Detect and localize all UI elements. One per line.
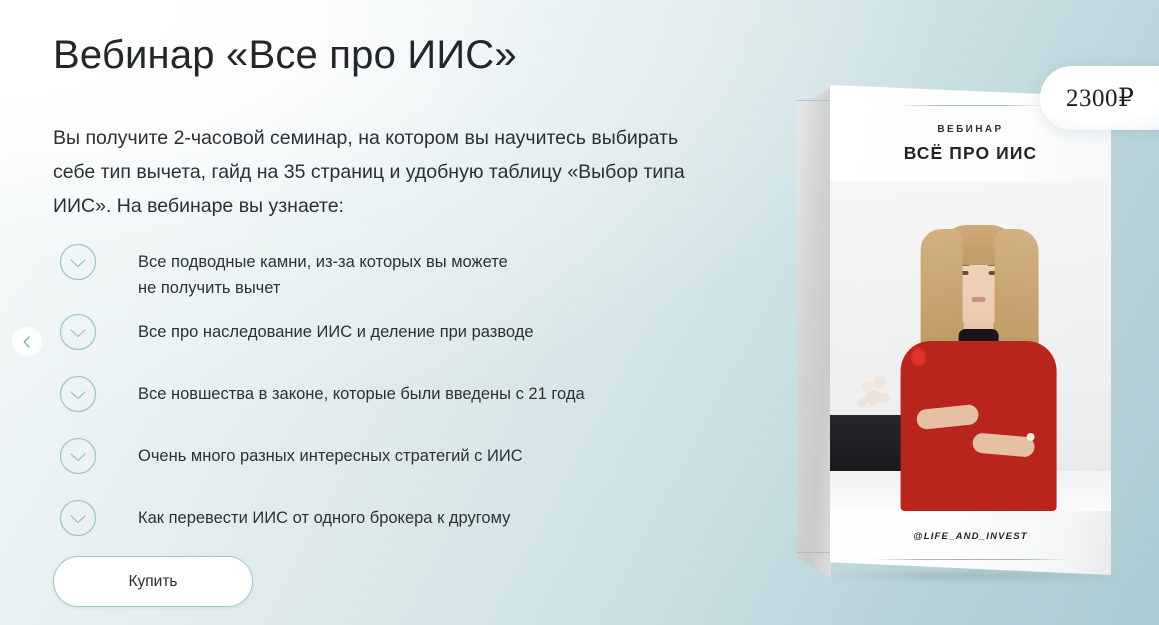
box-side-line-top — [797, 100, 831, 101]
list-item: Очень много разных интересных стратегий … — [53, 437, 713, 487]
check-circle-icon — [59, 437, 97, 475]
box-front-face: ВЕБИНАР ВСЁ ПРО ИИС — [830, 85, 1111, 575]
intro-paragraph: Вы получите 2-часовой семинар, на которо… — [53, 121, 698, 223]
content-column: Вебинар «Все про ИИС» Вы получите 2-часо… — [53, 0, 753, 625]
page-title: Вебинар «Все про ИИС» — [53, 33, 517, 78]
box-bottom-divider — [873, 559, 1069, 560]
product-box-mockup: ВЕБИНАР ВСЁ ПРО ИИС — [780, 60, 1159, 580]
box-divider — [897, 105, 1045, 106]
check-circle-icon — [59, 499, 97, 537]
price-value: 2300₽ — [1066, 83, 1134, 113]
presenter-figure — [883, 211, 1073, 511]
chevron-left-icon — [20, 335, 34, 349]
list-item-line-2: не получить вычет — [138, 275, 508, 301]
list-item-text: Все про наследование ИИС и деление при р… — [138, 313, 534, 345]
list-item: Все подводные камни, из-за которых вы мо… — [53, 243, 713, 301]
check-circle-icon — [59, 313, 97, 351]
presenter-ring — [1026, 433, 1034, 441]
list-item: Как перевести ИИС от одного брокера к др… — [53, 499, 713, 549]
buy-button[interactable]: Купить — [53, 556, 253, 607]
box-side-panel — [797, 88, 831, 578]
list-item-line-1: Все подводные камни, из-за которых вы мо… — [138, 253, 508, 271]
list-item-line-1: Все про наследование ИИС и деление при р… — [138, 323, 534, 341]
check-circle-icon — [59, 243, 97, 281]
presenter-hair-left — [920, 229, 962, 359]
box-side-line-bottom — [797, 552, 831, 553]
list-item-line-1: Очень много разных интересных стратегий … — [138, 447, 523, 465]
list-item-line-1: Как перевести ИИС от одного брокера к др… — [138, 509, 510, 527]
presenter-photo — [830, 181, 1111, 511]
presenter-lips — [971, 297, 985, 302]
box-title-label: ВСЁ ПРО ИИС — [830, 143, 1111, 164]
check-circle-icon — [59, 375, 97, 413]
price-badge: 2300₽ — [1040, 66, 1159, 130]
box-caption-handle: @LIFE_AND_INVEST — [830, 531, 1111, 542]
benefits-list: Все подводные камни, из-за которых вы мо… — [53, 243, 713, 549]
list-item-text: Все новшества в законе, которые были вве… — [138, 375, 585, 407]
list-item-text: Как перевести ИИС от одного брокера к др… — [138, 499, 510, 531]
list-item-text: Все подводные камни, из-за которых вы мо… — [138, 243, 508, 301]
list-item-text: Очень много разных интересных стратегий … — [138, 437, 523, 469]
carousel-prev-button[interactable] — [12, 327, 42, 357]
list-item: Все новшества в законе, которые были вве… — [53, 375, 713, 425]
list-item-line-1: Все новшества в законе, которые были вве… — [138, 385, 585, 403]
webinar-promo-slide: Вебинар «Все про ИИС» Вы получите 2-часо… — [0, 0, 1159, 625]
list-item: Все про наследование ИИС и деление при р… — [53, 313, 713, 363]
